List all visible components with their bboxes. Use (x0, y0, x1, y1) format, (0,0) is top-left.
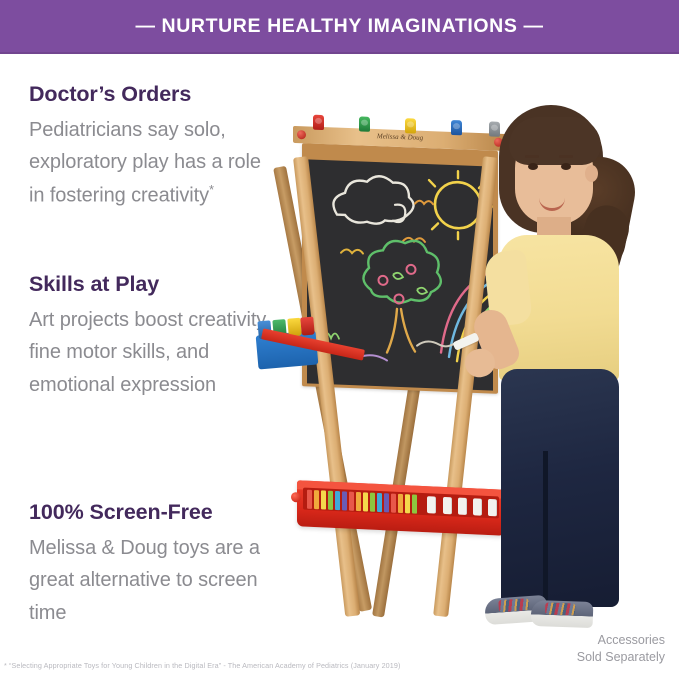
jeans-inseam (543, 451, 548, 603)
accessories-line-2: Sold Separately (577, 649, 665, 666)
hair-fringe (509, 117, 601, 165)
header-banner: — NURTURE HEALTHY IMAGINATIONS — (0, 0, 679, 54)
copy-body: Melissa & Doug toys are a great alternat… (29, 532, 279, 629)
tray-chalk (307, 490, 312, 509)
copy-heading: Doctor’s Orders (29, 82, 279, 107)
eye-right (561, 163, 571, 170)
shoe-stripes (545, 602, 575, 615)
eye-left (528, 163, 538, 170)
tray-chalk (342, 491, 347, 510)
banner-headline: — NURTURE HEALTHY IMAGINATIONS — (135, 15, 543, 38)
easel-clip-yellow[interactable] (405, 118, 416, 133)
easel-clip-red[interactable] (313, 115, 324, 130)
brand-logo: Melissa & Doug (377, 132, 423, 142)
accessories-note: Accessories Sold Separately (577, 632, 665, 666)
copy-heading: 100% Screen-Free (29, 500, 279, 525)
shoe-right (531, 600, 594, 628)
copy-block-screen-free: 100% Screen-Free Melissa & Doug toys are… (29, 500, 279, 629)
tray-chalk-white (443, 497, 452, 514)
copy-body: Art projects boost creativity, fine moto… (29, 304, 279, 401)
eyebrow-right (559, 155, 573, 158)
copy-block-skills-at-play: Skills at Play Art projects boost creati… (29, 272, 279, 401)
tray-chalk-white (427, 496, 436, 513)
tray-chalk (356, 492, 361, 511)
tray-chalk (363, 492, 368, 511)
tray-chalk (377, 493, 382, 512)
jeans (501, 369, 619, 607)
tray-chalk (398, 494, 403, 513)
footnote-citation: * “Selecting Appropriate Toys for Young … (4, 661, 400, 670)
paint-cup-red[interactable] (300, 317, 315, 336)
tray-chalk (349, 492, 354, 511)
footnote-marker: * (209, 182, 214, 197)
tray-chalk (370, 493, 375, 512)
tray-knob-left (291, 492, 301, 502)
tray-chalk (321, 490, 326, 509)
tray-chalk (384, 493, 389, 512)
child-model (469, 101, 669, 637)
tray-chalk (391, 494, 396, 513)
copy-body: Pediatricians say solo, exploratory play… (29, 114, 279, 212)
tray-chalk (314, 490, 319, 509)
copy-block-doctors-orders: Doctor’s Orders Pediatricians say solo, … (29, 82, 279, 212)
eyebrow-left (525, 155, 539, 158)
tray-chalk (328, 491, 333, 510)
product-photo: Melissa & Doug (255, 95, 679, 640)
copy-body-text: Pediatricians say solo, exploratory play… (29, 119, 261, 206)
tray-chalk (335, 491, 340, 510)
easel-clip-blue[interactable] (451, 120, 462, 135)
copy-heading: Skills at Play (29, 272, 279, 297)
tray-chalk (412, 494, 417, 513)
ear (585, 165, 598, 182)
advertisement-page: — NURTURE HEALTHY IMAGINATIONS — Doctor’… (0, 0, 679, 679)
tray-chalk-white (458, 498, 467, 515)
shoe-stripes (498, 598, 529, 612)
easel-knob-left (297, 130, 306, 139)
accessories-line-1: Accessories (577, 632, 665, 649)
tray-chalk (405, 494, 410, 513)
easel-clip-green[interactable] (359, 116, 370, 131)
